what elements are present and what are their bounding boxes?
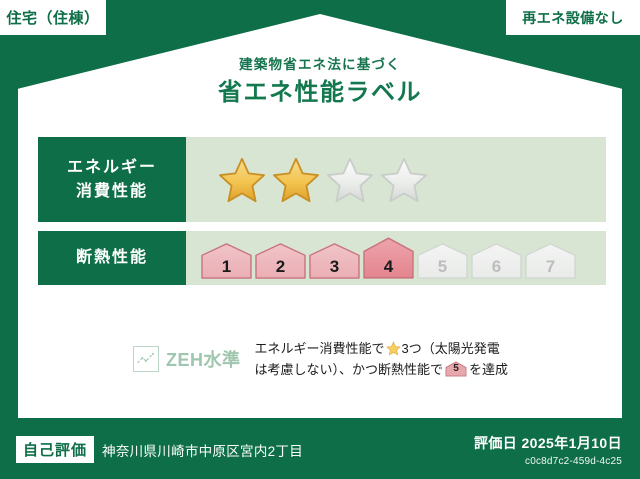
label-title: 建築物省エネ法に基づく 省エネ性能ラベル: [0, 57, 640, 107]
footer-left: 自己評価 神奈川県川崎市中原区宮内2丁目: [16, 436, 303, 463]
row-insulation-performance: 断熱性能 1234567: [38, 231, 606, 285]
row-energy-label: エネルギー 消費性能: [38, 137, 186, 222]
insulation-level-value: 4: [362, 257, 415, 277]
row-insulation-label: 断熱性能: [38, 231, 186, 285]
zeh-chart-icon: [133, 346, 159, 372]
insulation-level-value: 3: [308, 257, 361, 277]
rating-rows: エネルギー 消費性能 断熱性能 1234567: [38, 137, 606, 294]
badge-building-type-label: 住宅（住棟）: [6, 7, 99, 28]
insulation-level-empty: 7: [524, 242, 577, 280]
row-insulation-label-text: 断熱性能: [76, 246, 148, 269]
inline-house-badge-icon: 5: [445, 361, 467, 377]
energy-performance-label: 住宅（住棟） 再エネ設備なし 建築物省エネ法に基づく 省エネ性能ラベル エネルギ…: [0, 0, 640, 479]
footer-right: 評価日 2025年1月10日 c0c8d7c2-459d-4c25: [474, 433, 622, 467]
row-energy-label-line2: 消費性能: [76, 180, 148, 203]
star-filled-icon: [218, 156, 266, 204]
inline-house-badge-value: 5: [445, 361, 467, 378]
evaluation-date: 評価日 2025年1月10日: [474, 433, 622, 453]
zeh-description: エネルギー消費性能で3つ（太陽光発電 は考慮しない）、かつ断熱性能で5を達成: [255, 338, 509, 381]
badge-renewable-energy-label: 再エネ設備なし: [522, 8, 624, 28]
title-main: 省エネ性能ラベル: [0, 79, 640, 107]
zeh-mark: ZEH水準: [133, 346, 241, 372]
evaluation-id: c0c8d7c2-459d-4c25: [474, 456, 622, 467]
insulation-level-value: 5: [416, 257, 469, 277]
zeh-description-line1: エネルギー消費性能で3つ（太陽光発電: [255, 338, 509, 359]
row-energy-performance: エネルギー 消費性能: [38, 137, 606, 222]
star-empty-icon: [326, 156, 374, 204]
insulation-level-filled: 2: [254, 242, 307, 280]
inline-star-icon: [386, 341, 401, 356]
insulation-level-value: 6: [470, 257, 523, 277]
property-address: 神奈川県川崎市中原区宮内2丁目: [102, 440, 303, 460]
insulation-level-empty: 5: [416, 242, 469, 280]
insulation-level-filled: 3: [308, 242, 361, 280]
star-rating: [186, 137, 606, 222]
badge-renewable-energy: 再エネ設備なし: [506, 0, 640, 35]
insulation-level-value: 7: [524, 257, 577, 277]
star-empty-icon: [380, 156, 428, 204]
insulation-level-empty: 6: [470, 242, 523, 280]
insulation-level-filled: 1: [200, 242, 253, 280]
zeh-criteria: ZEH水準 エネルギー消費性能で3つ（太陽光発電 は考慮しない）、かつ断熱性能で…: [133, 338, 508, 381]
insulation-level-filled: 4: [362, 236, 415, 280]
star-filled-icon: [272, 156, 320, 204]
insulation-scale: 1234567: [200, 236, 578, 280]
insulation-level-value: 1: [200, 257, 253, 277]
zeh-mark-label: ZEH水準: [166, 346, 241, 372]
zeh-desc-line2-part-b: を達成: [469, 362, 508, 377]
insulation-level-value: 2: [254, 257, 307, 277]
label-footer: 自己評価 神奈川県川崎市中原区宮内2丁目 評価日 2025年1月10日 c0c8…: [0, 421, 640, 479]
zeh-desc-line1-part-a: エネルギー消費性能で: [255, 341, 385, 356]
row-energy-label-line1: エネルギー: [67, 156, 157, 179]
zeh-desc-line2-part-a: は考慮しない）、かつ断熱性能で: [255, 362, 444, 377]
title-subtitle: 建築物省エネ法に基づく: [0, 57, 640, 73]
badge-building-type: 住宅（住棟）: [0, 0, 106, 35]
insulation-scale-area: 1234567: [186, 231, 606, 285]
self-assessment-badge: 自己評価: [16, 436, 94, 463]
zeh-desc-line1-part-b: 3つ（太陽光発電: [402, 341, 500, 356]
zeh-description-line2: は考慮しない）、かつ断熱性能で5を達成: [255, 359, 509, 380]
